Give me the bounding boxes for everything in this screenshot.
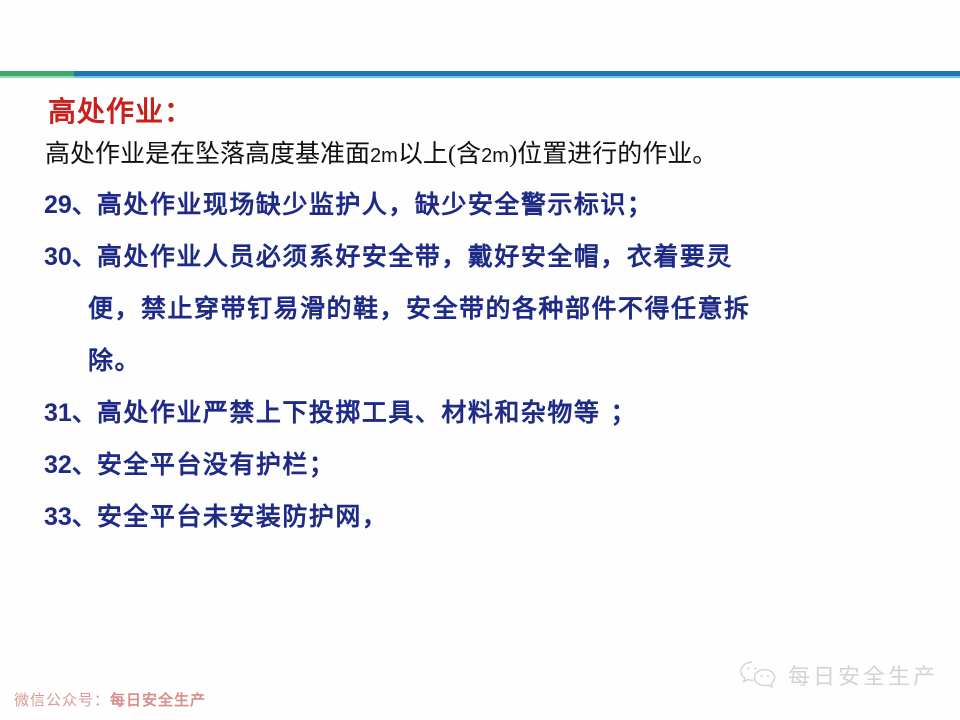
slide-canvas: 高处作业： 高处作业是在坠落高度基准面2m以上(含2m)位置进行的作业。 29、… (0, 0, 960, 720)
list-item-number: 29、 (44, 191, 97, 219)
list-item-text: 高处作业现场缺少监护人，缺少安全警示标识； (97, 190, 654, 219)
watermark: 每日安全生产 (738, 658, 938, 692)
page-title: 高处作业： (48, 92, 934, 132)
definition-text: 高处作业是在坠落高度基准面2m以上(含2m)位置进行的作业。 (45, 138, 934, 173)
footer-caption: 微信公众号：每日安全生产 (14, 689, 206, 710)
definition-suffix: )位置进行的作业。 (509, 141, 717, 168)
top-divider-rule (0, 71, 960, 79)
list-item-continuation: 除。 (44, 335, 934, 387)
list-item: 29、高处作业现场缺少监护人，缺少安全警示标识； (44, 179, 934, 231)
definition-middle: 以上(含 (398, 141, 481, 168)
definition-prefix: 高处作业是在坠落高度基准面 (45, 141, 370, 168)
list-item-number: 31、 (44, 399, 97, 427)
list-item-text: 便，禁止穿带钉易滑的鞋，安全带的各种部件不得任意拆 (88, 294, 751, 323)
footer-caption-label: 微信公众号： (14, 691, 110, 709)
list-item-text: 除。 (88, 346, 141, 375)
divider-blue-light-segment (0, 76, 960, 78)
list-item-continuation: 便，禁止穿带钉易滑的鞋，安全带的各种部件不得任意拆 (44, 283, 934, 335)
slide-content: 高处作业： 高处作业是在坠落高度基准面2m以上(含2m)位置进行的作业。 29、… (44, 92, 934, 543)
list-item: 31、高处作业严禁上下投掷工具、材料和杂物等 ； (44, 387, 934, 439)
definition-unit-1: 2m (370, 145, 398, 167)
wechat-icon (738, 658, 778, 692)
watermark-label: 每日安全生产 (788, 659, 938, 691)
list-item: 30、高处作业人员必须系好安全带，戴好安全帽，衣着要灵 (44, 231, 934, 283)
list-item-text: 安全平台没有护栏； (97, 450, 336, 479)
divider-green-light-segment (0, 76, 74, 78)
list-item-text: 高处作业严禁上下投掷工具、材料和杂物等 ； (97, 398, 637, 427)
definition-unit-2: 2m (481, 145, 509, 167)
list-item: 33、安全平台未安装防护网， (44, 491, 934, 543)
list-item-number: 33、 (44, 503, 97, 531)
list-item: 32、安全平台没有护栏； (44, 439, 934, 491)
list-item-number: 32、 (44, 451, 97, 479)
list-item-text: 高处作业人员必须系好安全带，戴好安全帽，衣着要灵 (97, 242, 733, 271)
list-item-text: 安全平台未安装防护网， (97, 502, 389, 531)
footer-caption-account: 每日安全生产 (110, 691, 206, 709)
list-item-number: 30、 (44, 243, 97, 271)
